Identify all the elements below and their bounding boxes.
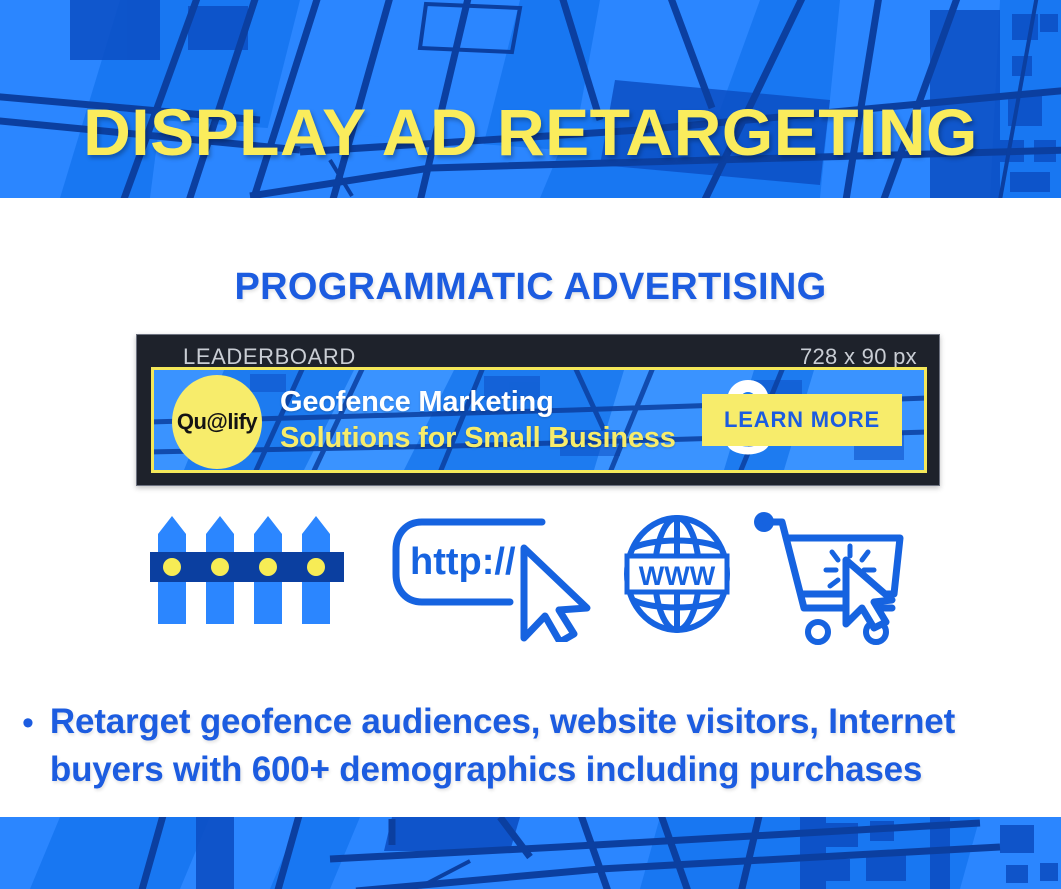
slide-canvas: DISPLAY AD RETARGETING PROGRAMMATIC ADVE…	[0, 0, 1061, 889]
www-globe-icon: WWW	[620, 512, 735, 647]
learn-more-button[interactable]: LEARN MORE	[702, 394, 902, 446]
leaderboard-ad-frame: LEADERBOARD 728 x 90 px	[136, 334, 940, 486]
ad-headline: Geofence Marketing Solutions for Small B…	[280, 384, 670, 456]
ad-headline-line1: Geofence Marketing	[280, 384, 670, 420]
shopping-cart-click-icon	[752, 512, 912, 652]
feature-icon-row: http:// WWW	[0, 512, 1061, 662]
geofence-icon	[150, 512, 350, 637]
url-text: http://	[410, 541, 516, 583]
qualify-logo: Qu@lify	[172, 375, 262, 469]
ad-headline-line2: Solutions for Small Business	[280, 420, 670, 456]
list-item: • Retarget geofence audiences, website v…	[22, 698, 1042, 794]
page-title: DISPLAY AD RETARGETING	[0, 96, 1061, 168]
map-pattern-bottom	[0, 817, 1061, 889]
bullet-marker: •	[22, 698, 34, 748]
bottom-map-banner	[0, 817, 1061, 889]
bullet-list: • Retarget geofence audiences, website v…	[22, 698, 1042, 794]
qualify-logo-text: Qu@lify	[177, 409, 257, 435]
banner-ad-creative[interactable]: Qu@lify Geofence Marketing Solutions for…	[151, 367, 927, 473]
learn-more-label: LEARN MORE	[724, 407, 880, 433]
section-subheading: PROGRAMMATIC ADVERTISING	[0, 264, 1061, 310]
bullet-text: Retarget geofence audiences, website vis…	[50, 698, 1042, 794]
url-cursor-icon: http://	[382, 512, 592, 647]
globe-www-text: WWW	[639, 561, 716, 591]
